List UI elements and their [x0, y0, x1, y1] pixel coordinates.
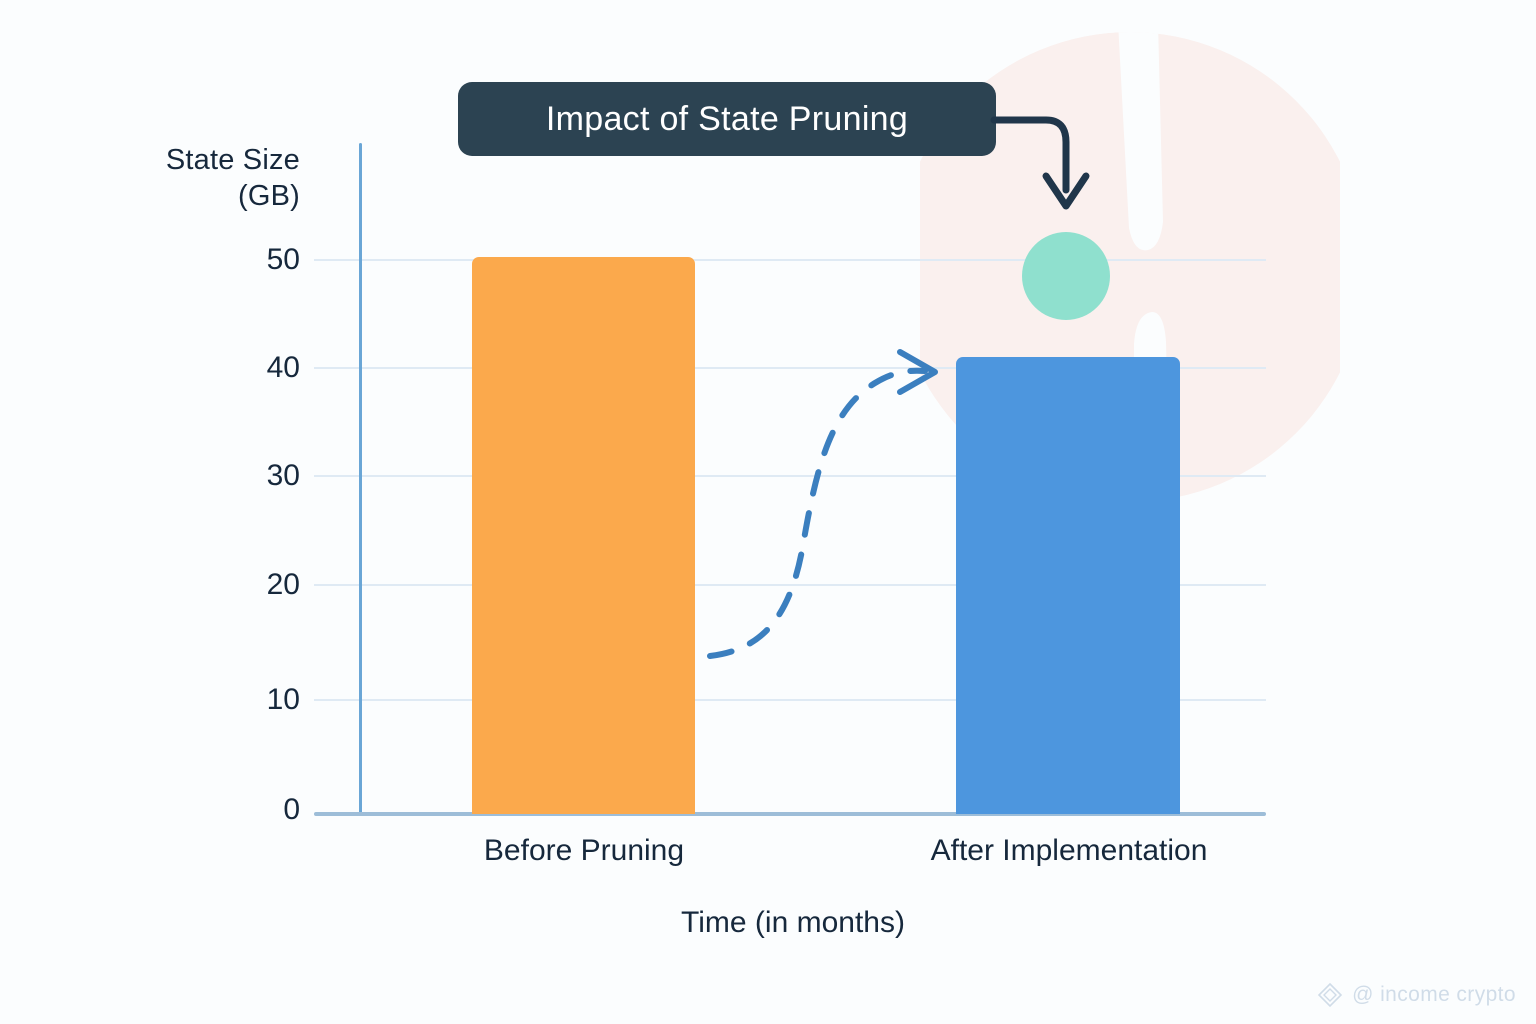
- x-category-label-after: After Implementation: [893, 834, 1245, 868]
- bar-before-pruning[interactable]: [472, 257, 695, 814]
- bar-after-implementation[interactable]: [956, 357, 1180, 814]
- watermark: @ income crypto: [1317, 982, 1516, 1008]
- y-tick-40: 40: [230, 351, 300, 385]
- y-tick-0: 0: [230, 793, 300, 827]
- highlight-dot[interactable]: [1022, 232, 1110, 320]
- y-tick-10: 10: [230, 683, 300, 717]
- x-category-label-before: Before Pruning: [448, 834, 720, 868]
- title-callout-box[interactable]: Impact of State Pruning: [458, 82, 996, 156]
- chart-title: Impact of State Pruning: [546, 100, 908, 139]
- watermark-handle: @ income crypto: [1352, 983, 1516, 1007]
- y-tick-50: 50: [230, 243, 300, 277]
- x-axis-title: Time (in months): [468, 906, 1118, 940]
- diamond-logo-icon: [1317, 982, 1343, 1008]
- y-axis-title-line1: State Size: [110, 142, 300, 178]
- y-axis-title-line2: (GB): [110, 178, 300, 214]
- y-axis-line: [359, 143, 362, 815]
- y-tick-20: 20: [230, 568, 300, 602]
- chart-canvas: State Size (GB) 50 40 30 20 10 0 Before …: [0, 0, 1536, 1024]
- y-axis-title: State Size (GB): [110, 142, 300, 214]
- y-tick-30: 30: [230, 459, 300, 493]
